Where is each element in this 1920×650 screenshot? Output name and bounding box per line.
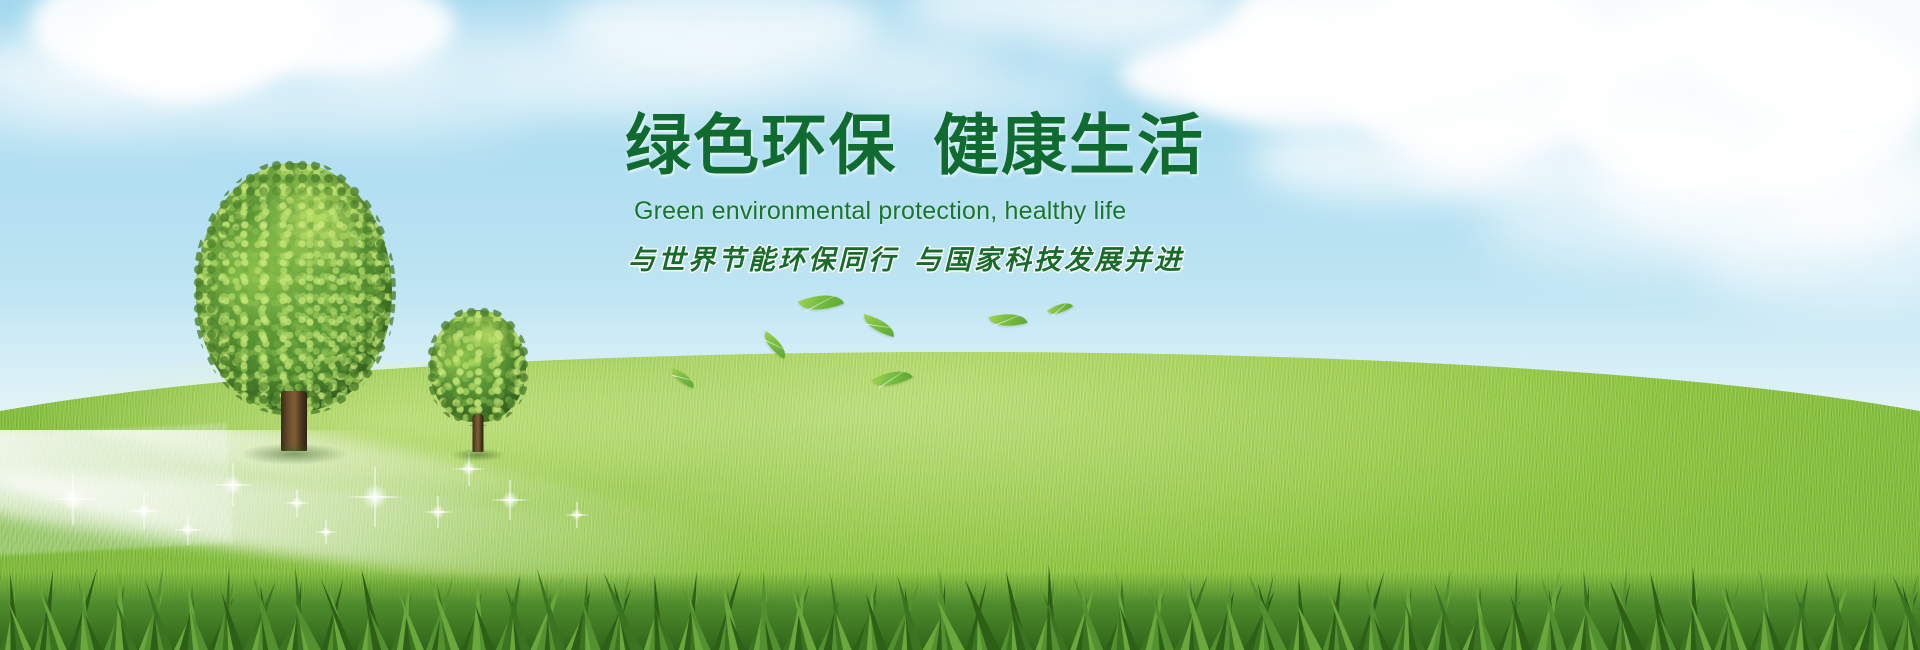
page-title: 绿色环保健康生活 <box>625 112 1205 178</box>
tree-canopy <box>196 163 392 411</box>
tree-ground-shadow <box>219 439 369 469</box>
small-tree <box>430 310 526 450</box>
subtitle-english: Green environmental protection, healthy … <box>634 197 1126 226</box>
cloud-shape <box>1250 120 1530 200</box>
tree-canopy <box>430 310 526 422</box>
headline-part2: 健康生活 <box>933 108 1205 182</box>
subtitle-chinese-slogan: 与世界节能环保同行与国家科技发展并进 <box>628 238 1184 277</box>
slogan-part1: 与世界节能环保同行 <box>628 245 898 275</box>
leaf-vein <box>994 314 1022 326</box>
slogan-part2: 与国家科技发展并进 <box>914 245 1184 275</box>
big-tree <box>196 163 392 448</box>
cloud-shape <box>230 95 530 139</box>
eco-banner: 绿色环保健康生活 Green environmental protection,… <box>0 0 1920 650</box>
tree-ground-shadow <box>440 446 516 464</box>
cloud-shape <box>1180 10 1430 130</box>
grass-fringe <box>0 542 1920 650</box>
headline-part1: 绿色环保 <box>625 108 897 182</box>
